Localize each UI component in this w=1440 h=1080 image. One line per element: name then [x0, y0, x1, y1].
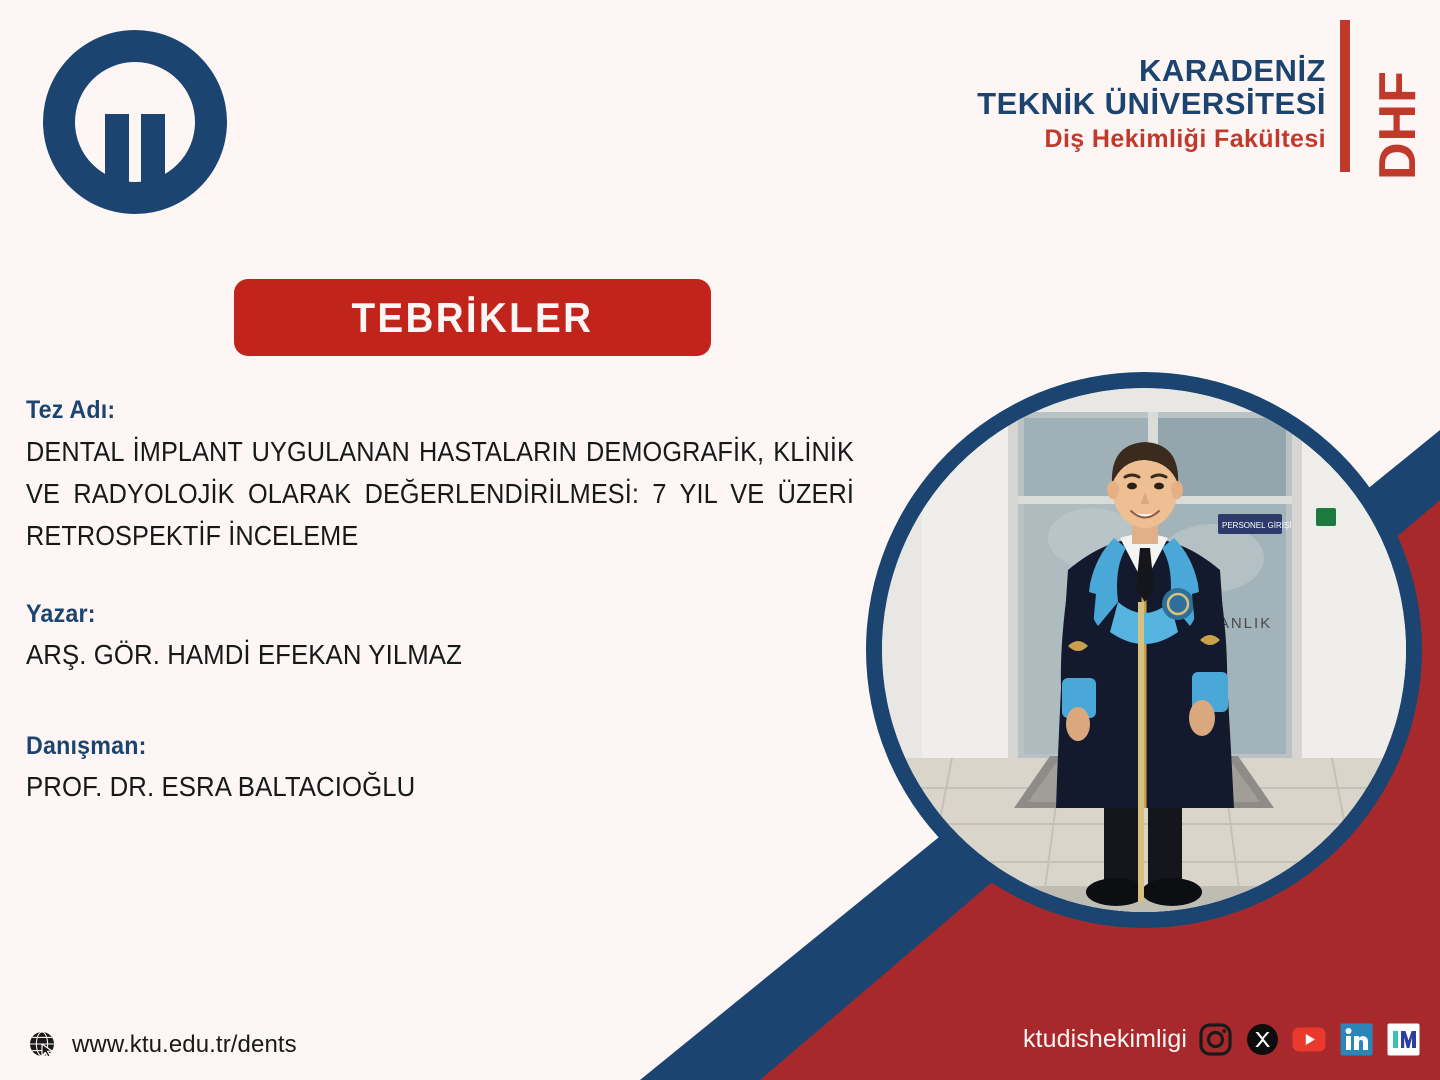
poster-canvas: KARADENİZ TEKNİK ÜNİVERSİTESİ Diş Hekiml…	[0, 0, 1440, 1080]
thesis-title-value: DENTAL İMPLANT UYGULANAN HASTALARIN DEMO…	[26, 431, 854, 556]
faculty-brand-lockup: KARADENİZ TEKNİK ÜNİVERSİTESİ Diş Hekiml…	[977, 14, 1424, 180]
advisor-value: PROF. DR. ESRA BALTACIOĞLU	[26, 767, 790, 808]
university-line1: KARADENİZ	[977, 54, 1326, 87]
graduate-photo-frame: DEKANLIK PERSONEL GİRİŞİ	[866, 372, 1422, 928]
globe-cursor-icon	[28, 1030, 58, 1060]
x-twitter-icon[interactable]	[1245, 1022, 1279, 1056]
congratulations-label: TEBRİKLER	[352, 294, 594, 342]
youtube-icon[interactable]	[1292, 1022, 1326, 1056]
congratulations-banner: TEBRİKLER	[234, 279, 711, 356]
linkedin-icon[interactable]	[1339, 1022, 1373, 1056]
spacer	[26, 676, 856, 732]
header-divider-rule	[1340, 20, 1350, 172]
faculty-name: Diş Hekimliği Fakültesi	[977, 123, 1326, 156]
svg-text:PERSONEL GİRİŞİ: PERSONEL GİRİŞİ	[1222, 521, 1292, 530]
thesis-title-label: Tez Adı:	[26, 396, 798, 425]
website-footer[interactable]: www.ktu.edu.tr/dents	[28, 1030, 297, 1060]
graduate-photo-illustration: DEKANLIK PERSONEL GİRİŞİ	[882, 388, 1406, 912]
ktu-circular-logo	[34, 22, 236, 222]
social-footer: ktudishekimligi	[1023, 1022, 1420, 1056]
news-app-icon[interactable]	[1386, 1022, 1420, 1056]
graduate-photo: DEKANLIK PERSONEL GİRİŞİ	[882, 388, 1406, 912]
website-url: www.ktu.edu.tr/dents	[72, 1031, 297, 1059]
university-line2: TEKNİK ÜNİVERSİTESİ	[977, 87, 1326, 120]
advisor-label: Danışman:	[26, 732, 798, 761]
author-value: ARŞ. GÖR. HAMDİ EFEKAN YILMAZ	[26, 635, 790, 676]
social-handle: ktudishekimligi	[1023, 1025, 1187, 1054]
thesis-info-block: Tez Adı: DENTAL İMPLANT UYGULANAN HASTAL…	[26, 396, 856, 808]
spacer	[26, 556, 856, 600]
university-names: KARADENİZ TEKNİK ÜNİVERSİTESİ Diş Hekiml…	[977, 14, 1340, 156]
faculty-abbreviation: DHF	[1372, 52, 1424, 180]
instagram-icon[interactable]	[1198, 1022, 1232, 1056]
author-label: Yazar:	[26, 600, 798, 629]
